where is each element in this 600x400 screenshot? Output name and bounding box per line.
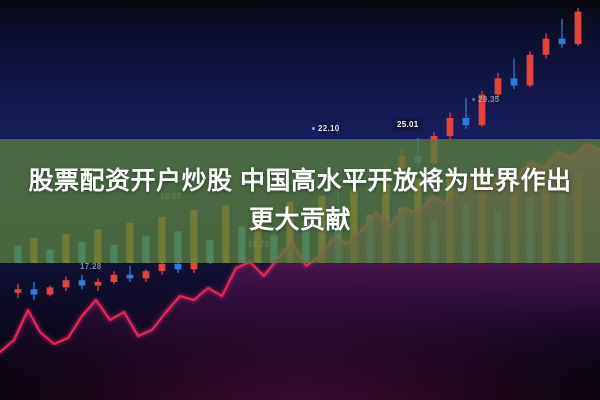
- label-29-35: 29.35: [472, 95, 500, 104]
- price-label-text: 17.28: [80, 262, 102, 271]
- label-17-28: 17.28: [80, 262, 102, 271]
- stock-chart-banner: 22.1025.0129.3518.0718.7517.28 股票配资开户炒股 …: [0, 0, 600, 400]
- headline-text: 股票配资开户炒股 中国高水平开放将为世界作出 更大贡献: [0, 139, 600, 263]
- price-label-text: 29.35: [478, 95, 500, 104]
- label-25-01: 25.01: [393, 118, 423, 131]
- price-label-text: 25.01: [397, 120, 419, 129]
- headline-line-1: 股票配资开户炒股 中国高水平开放将为世界作出: [29, 162, 572, 201]
- headline-line-2: 更大贡献: [249, 201, 351, 240]
- label-22-10: 22.10: [312, 124, 340, 133]
- price-label-text: 22.10: [318, 124, 340, 133]
- marker-dot-icon: [472, 98, 475, 101]
- marker-dot-icon: [312, 127, 315, 130]
